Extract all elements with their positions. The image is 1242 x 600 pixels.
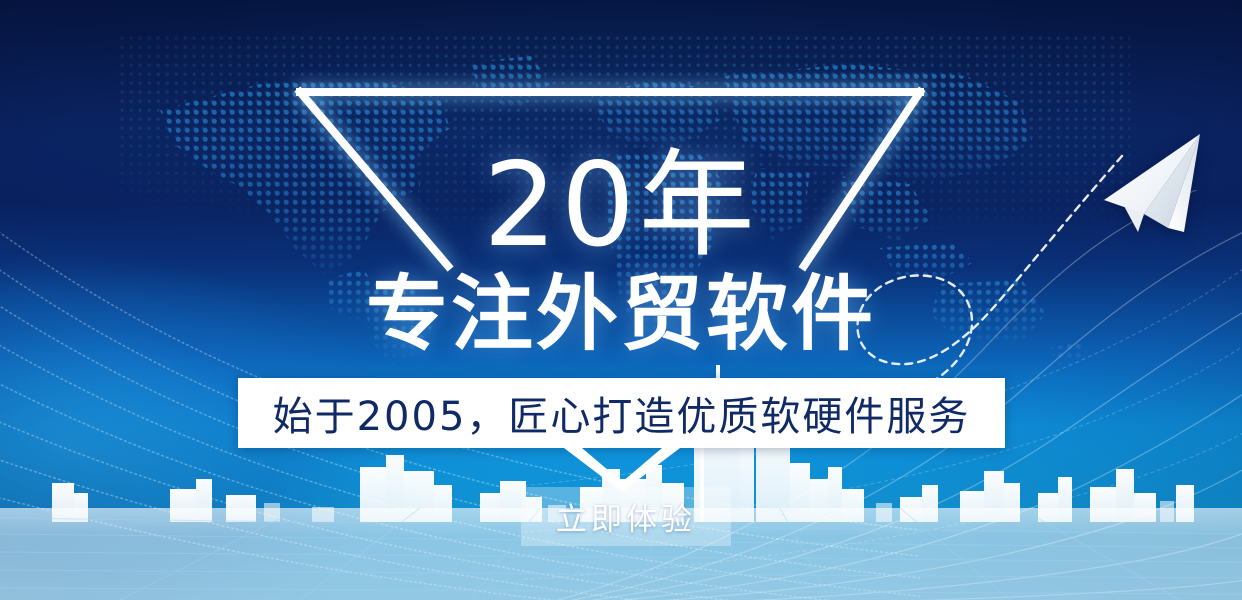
subtitle-text: 始于2005，匠心打造优质软硬件服务 <box>273 384 971 442</box>
chevron-down-icon <box>564 448 680 492</box>
promo-banner: 20年 专注外贸软件 始于2005，匠心打造优质软硬件服务 立即体验 <box>0 0 1242 600</box>
cta-button[interactable]: 立即体验 <box>521 487 731 546</box>
banner-content: 20年 专注外贸软件 始于2005，匠心打造优质软硬件服务 立即体验 <box>0 0 1242 600</box>
cta-button-label: 立即体验 <box>556 494 696 539</box>
headline-main: 专注外贸软件 <box>0 274 1242 356</box>
headline-years: 20年 <box>0 148 1242 264</box>
subtitle-bar: 始于2005，匠心打造优质软硬件服务 <box>238 378 1005 448</box>
